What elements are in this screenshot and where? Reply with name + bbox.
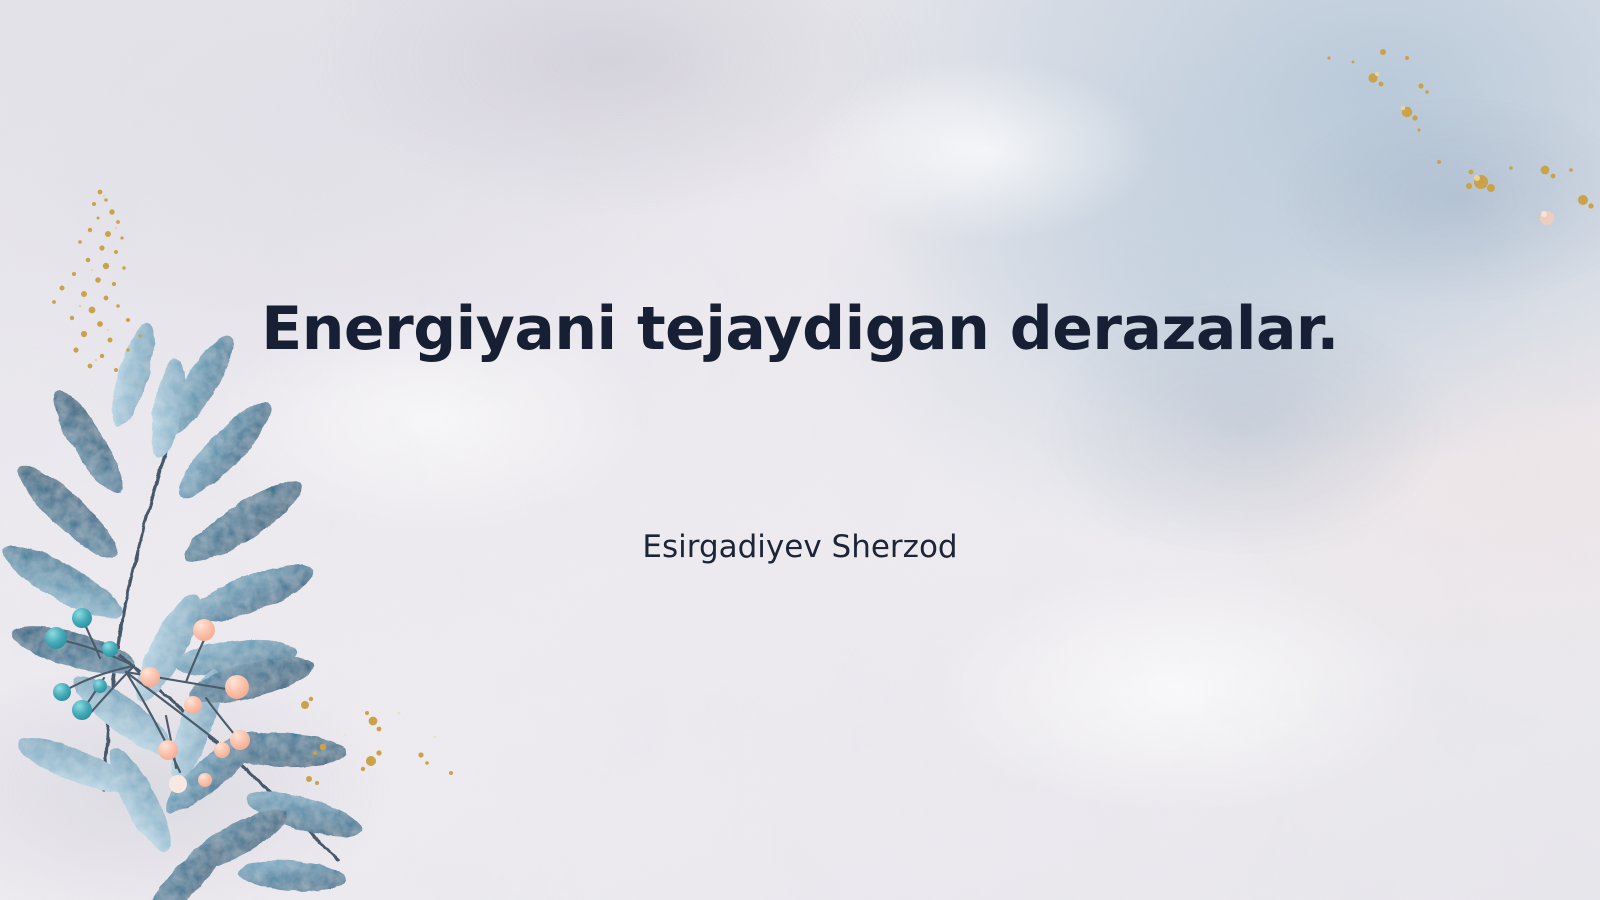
author-subtitle: Esirgadiyev Sherzod (0, 529, 1600, 566)
glitter-cluster-bottom (285, 665, 465, 785)
presentation-slide: Energiyani tejaydigan derazalar. Esirgad… (0, 0, 1600, 900)
glitter-cluster-top-right (1295, 30, 1595, 230)
page-title: Energiyani tejaydigan derazalar. (0, 296, 1600, 362)
